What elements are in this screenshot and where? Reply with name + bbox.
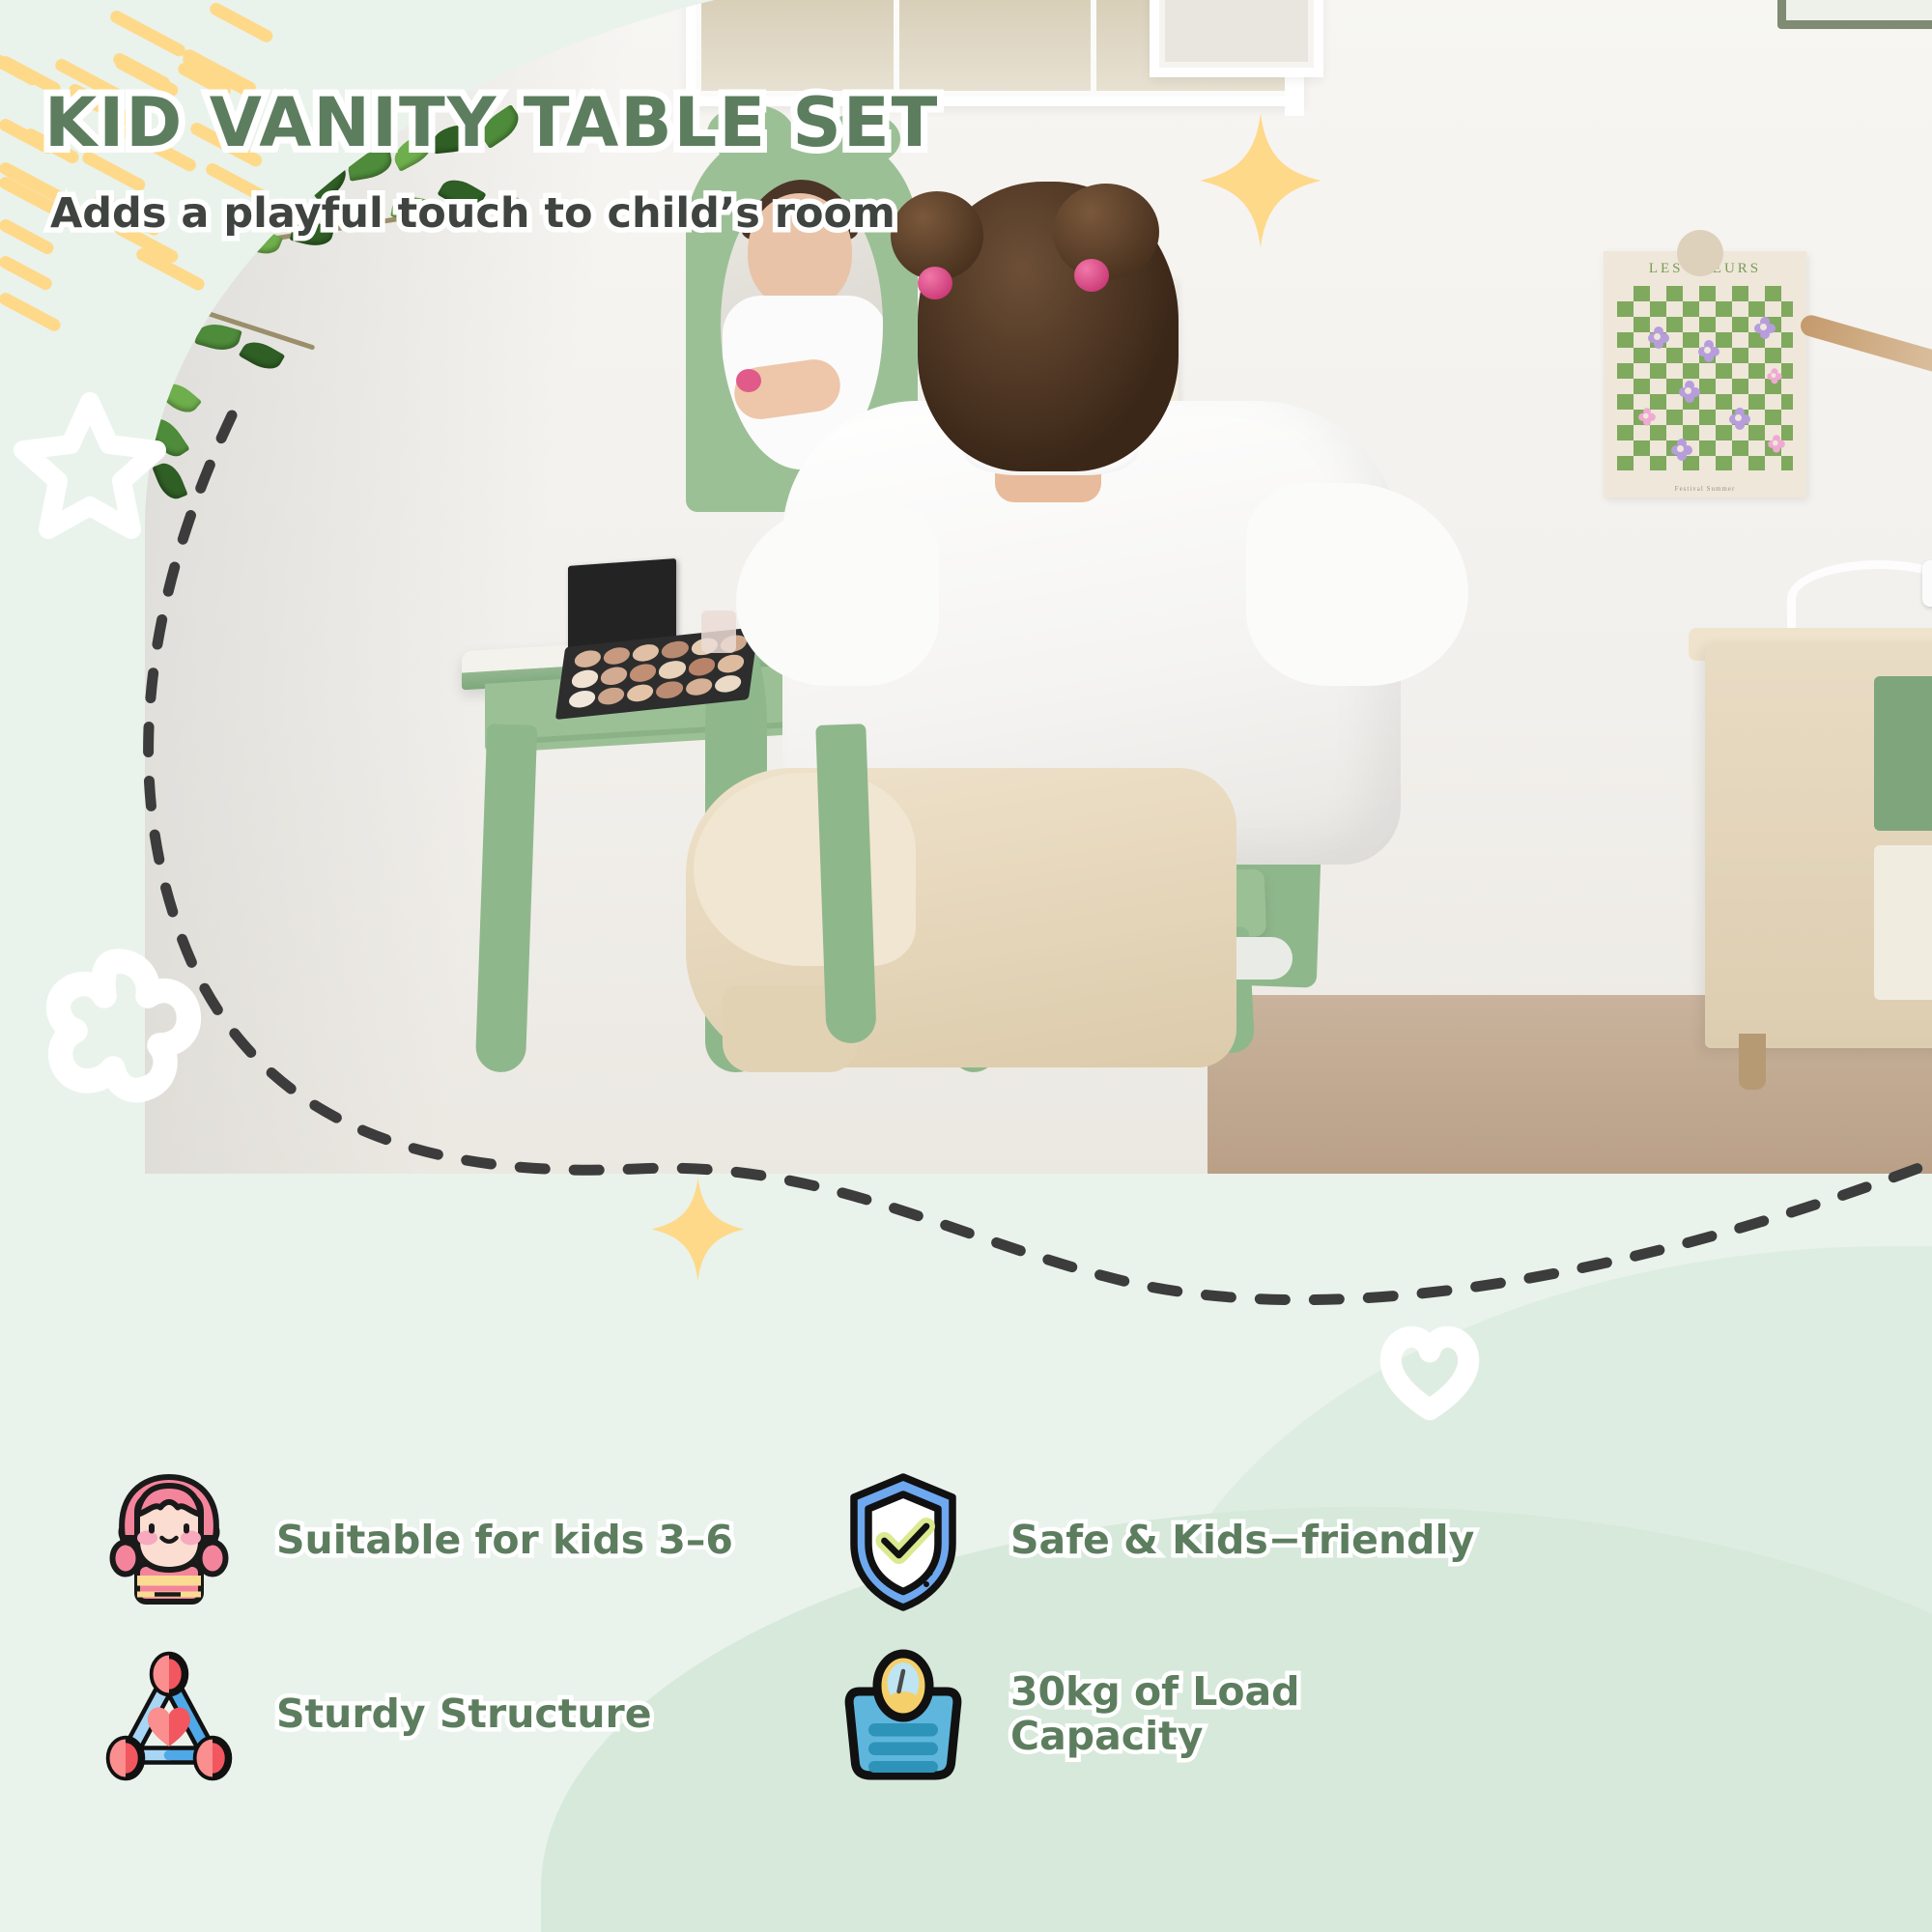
girl-knee — [694, 773, 916, 966]
reflection-nail-polish — [736, 369, 761, 392]
feature-label: Suitable for kids 3–6 — [276, 1519, 733, 1563]
hair-scrunchie — [1074, 259, 1109, 292]
window-second — [1150, 0, 1323, 77]
feature-load-capacity: 30kg of Load Capacity — [831, 1642, 1300, 1787]
power-plug — [1922, 560, 1932, 607]
fleurs-poster-pin — [1677, 230, 1723, 276]
feature-suitable-for-kids: Suitable for kids 3–6 — [97, 1468, 733, 1613]
page-title: KID VANITY TABLE SET — [44, 83, 939, 162]
nightstand-drawer-white — [1874, 845, 1932, 1000]
shield-check-icon — [831, 1468, 976, 1613]
cosmetic-jar — [701, 611, 736, 653]
hair-scrunchie — [918, 267, 952, 299]
feature-label: Sturdy Structure — [276, 1692, 652, 1737]
weight-scale-icon — [831, 1642, 976, 1787]
feature-safe-kids-friendly: Safe & Kids−friendly — [831, 1468, 1474, 1613]
nightstand-drawer-green — [1874, 676, 1932, 831]
triangle-heart-icon — [97, 1642, 241, 1787]
feature-sturdy-structure: Sturdy Structure — [97, 1642, 652, 1787]
feature-label: 30kg of Load Capacity — [1010, 1670, 1300, 1759]
page-subtitle: Adds a playful touch to child’s room — [50, 189, 895, 238]
wall-mirror — [1777, 0, 1932, 29]
product-infographic: LES FLEURS Festival Summer — [0, 0, 1932, 1932]
poster-caption: Festival Summer — [1604, 485, 1806, 493]
les-fleurs-poster: LES FLEURS Festival Summer — [1604, 251, 1806, 497]
girl-avatar-icon — [97, 1468, 241, 1613]
hero-product-photo: LES FLEURS Festival Summer — [145, 0, 1932, 1188]
feature-label: Safe & Kids−friendly — [1010, 1519, 1474, 1563]
ivy-plant-lower — [145, 280, 396, 512]
nightstand-foot — [1739, 1034, 1766, 1090]
